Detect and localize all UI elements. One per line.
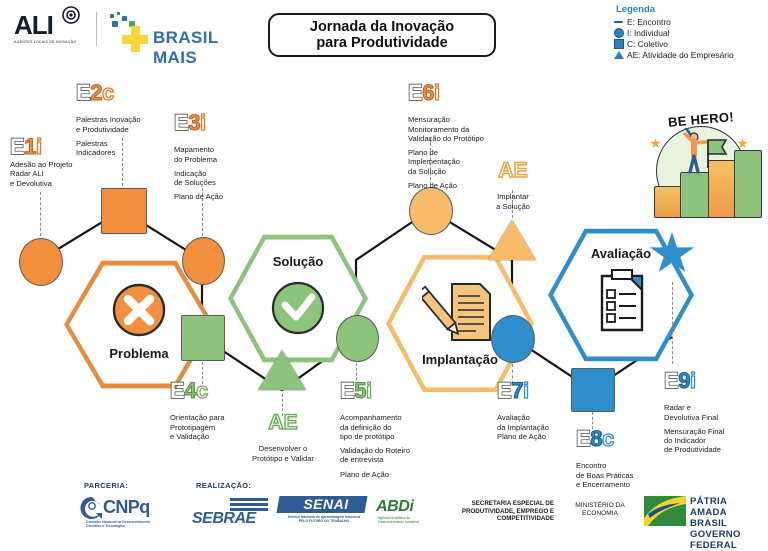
step-label-e3i: E3i Mapamento do ProblemaIndicação de So… bbox=[174, 112, 266, 216]
logo-subtitle: Conselho Nacional de Desenvolvimento Cie… bbox=[86, 520, 188, 529]
page-title: Jornada da Inovação para Produtividade bbox=[268, 13, 496, 57]
logo-patria-amada-brasil: PÁTRIA AMADA BRASIL GOVERNO FEDERAL bbox=[644, 494, 762, 530]
step-node-ae-implantar[interactable] bbox=[488, 220, 536, 260]
step-label-ae-implantar: AE Implantar a Solução bbox=[478, 160, 548, 225]
realization-label: REALIZAÇÃO: bbox=[196, 481, 251, 490]
legend: Legenda E: Encontro I: Individual C: Col… bbox=[612, 4, 766, 61]
sparkle-icon bbox=[650, 138, 661, 149]
step-label-ae-prototipo: AE Desenvolver o Protótipo e Validar bbox=[228, 412, 338, 477]
logo-cnpq: CNPq Conselho Nacional de Desenvolviment… bbox=[80, 496, 188, 530]
hero-person-icon bbox=[676, 128, 732, 180]
logo-ministerio-economia: MINISTÉRIO DA ECONOMIA bbox=[560, 502, 640, 519]
legend-item-individual: I: Individual bbox=[612, 28, 766, 38]
step-code: AE bbox=[478, 160, 548, 181]
error-x-icon bbox=[111, 282, 167, 338]
triangle-icon bbox=[612, 51, 625, 59]
stage-label: Solução bbox=[228, 254, 368, 269]
step-node-e4c[interactable] bbox=[181, 315, 225, 361]
leader-line bbox=[672, 282, 673, 364]
bar-chart-bar bbox=[734, 150, 762, 218]
pixel-square bbox=[122, 16, 127, 21]
document-pencil-icon bbox=[422, 276, 498, 348]
step-label-e9i: E9i Radar e Devolutiva FinalMensuração F… bbox=[664, 370, 766, 469]
step-desc: Mapamento do ProblemaIndicação de Soluçõ… bbox=[174, 136, 266, 216]
step-code: AE bbox=[228, 412, 338, 433]
step-desc: Desenvolver o Protótipo e Validar bbox=[228, 435, 338, 477]
step-code: E8c bbox=[576, 428, 674, 450]
logo-name: ABDi bbox=[376, 498, 414, 516]
legend-item-atividade-empresario: AE: Atividade do Empresário bbox=[612, 50, 766, 60]
legend-item-label: I: Individual bbox=[627, 28, 669, 38]
footer: PARCERIA: REALIZAÇÃO: CNPq Conselho Naci… bbox=[0, 476, 768, 543]
dash-icon bbox=[612, 21, 625, 24]
step-code: E3i bbox=[174, 112, 266, 134]
logo-name: CNPq bbox=[103, 497, 150, 518]
leader-line bbox=[40, 192, 41, 236]
bar-chart-bar bbox=[654, 186, 682, 218]
step-code: E6i bbox=[408, 82, 522, 104]
logo-divider bbox=[96, 12, 97, 46]
legend-item-encontro: E: Encontro bbox=[612, 17, 766, 27]
clipboard-checklist-icon bbox=[592, 268, 654, 340]
step-node-e7i[interactable] bbox=[491, 315, 535, 363]
step-node-e5i[interactable] bbox=[336, 315, 379, 362]
ali-logo-subtitle: AGENTES LOCAIS DE INOVAÇÃO bbox=[14, 40, 86, 44]
brasil-mais-logo: BRASIL MAIS bbox=[110, 12, 250, 52]
step-code: E4c bbox=[170, 380, 264, 402]
circle-icon bbox=[612, 28, 625, 38]
step-desc: Radar e Devolutiva FinalMensuração Final… bbox=[664, 394, 766, 469]
logo-abdi: ABDi Agência Brasileira de Desenvolvimen… bbox=[376, 498, 442, 528]
legend-item-label: AE: Atividade do Empresário bbox=[627, 50, 734, 60]
step-node-e1i[interactable] bbox=[19, 238, 63, 286]
logo-sebrae: SEBRAE bbox=[192, 498, 272, 528]
step-code: E9i bbox=[664, 370, 766, 392]
step-code: E5i bbox=[340, 380, 444, 402]
legend-item-label: C: Coletivo bbox=[627, 39, 668, 49]
square-icon bbox=[612, 39, 625, 49]
step-node-ae-prototipo[interactable] bbox=[258, 350, 306, 390]
plus-icon bbox=[122, 26, 148, 52]
legend-item-coletivo: C: Coletivo bbox=[612, 39, 766, 49]
cnpq-mark-icon bbox=[80, 496, 104, 520]
step-node-e2c[interactable] bbox=[101, 188, 147, 234]
ali-logo: ALI AGENTES LOCAIS DE INOVAÇÃO bbox=[14, 12, 86, 52]
ali-target-icon bbox=[62, 6, 80, 24]
page-title-line2: para Produtividade bbox=[316, 35, 447, 51]
journey-diagram: Problema Solução Implantação Avaliação bbox=[0, 60, 768, 475]
partnership-label: PARCERIA: bbox=[84, 481, 128, 490]
logo-secretaria-especial: SECRETARIA ESPECIAL DE PRODUTIVIDADE, EM… bbox=[448, 500, 554, 523]
logo-subtitle: Serviço Nacional de Aprendizagem Industr… bbox=[278, 515, 370, 524]
step-desc: Implantar a Solução bbox=[478, 183, 548, 225]
logo-subtitle: Agência Brasileira de Desenvolvimento In… bbox=[378, 516, 442, 525]
pixel-square bbox=[117, 12, 120, 15]
page-title-line1: Jornada da Inovação bbox=[310, 19, 454, 35]
step-label-e2c: E2c Palestras Inovação e ProdutividadePa… bbox=[76, 82, 176, 172]
brazil-flag-icon bbox=[644, 496, 686, 526]
logo-name: SEBRAE bbox=[192, 510, 256, 528]
logo-senai: SENAI Serviço Nacional de Aprendizagem I… bbox=[278, 496, 370, 530]
pixel-square bbox=[112, 21, 118, 27]
header: ALI AGENTES LOCAIS DE INOVAÇÃO BRASIL MA… bbox=[0, 0, 768, 62]
legend-title: Legenda bbox=[616, 4, 766, 15]
step-node-e3i[interactable] bbox=[182, 237, 225, 285]
legend-item-label: E: Encontro bbox=[627, 17, 671, 27]
logo-name: SENAI bbox=[282, 496, 370, 513]
be-hero-badge: BE HERO! bbox=[638, 106, 762, 224]
check-circle-icon bbox=[270, 280, 326, 336]
pixel-square bbox=[110, 14, 114, 18]
step-desc: Palestras Inovação e ProdutividadePalest… bbox=[76, 106, 176, 172]
step-code: E2c bbox=[76, 82, 176, 104]
step-code: E7i bbox=[497, 380, 589, 402]
